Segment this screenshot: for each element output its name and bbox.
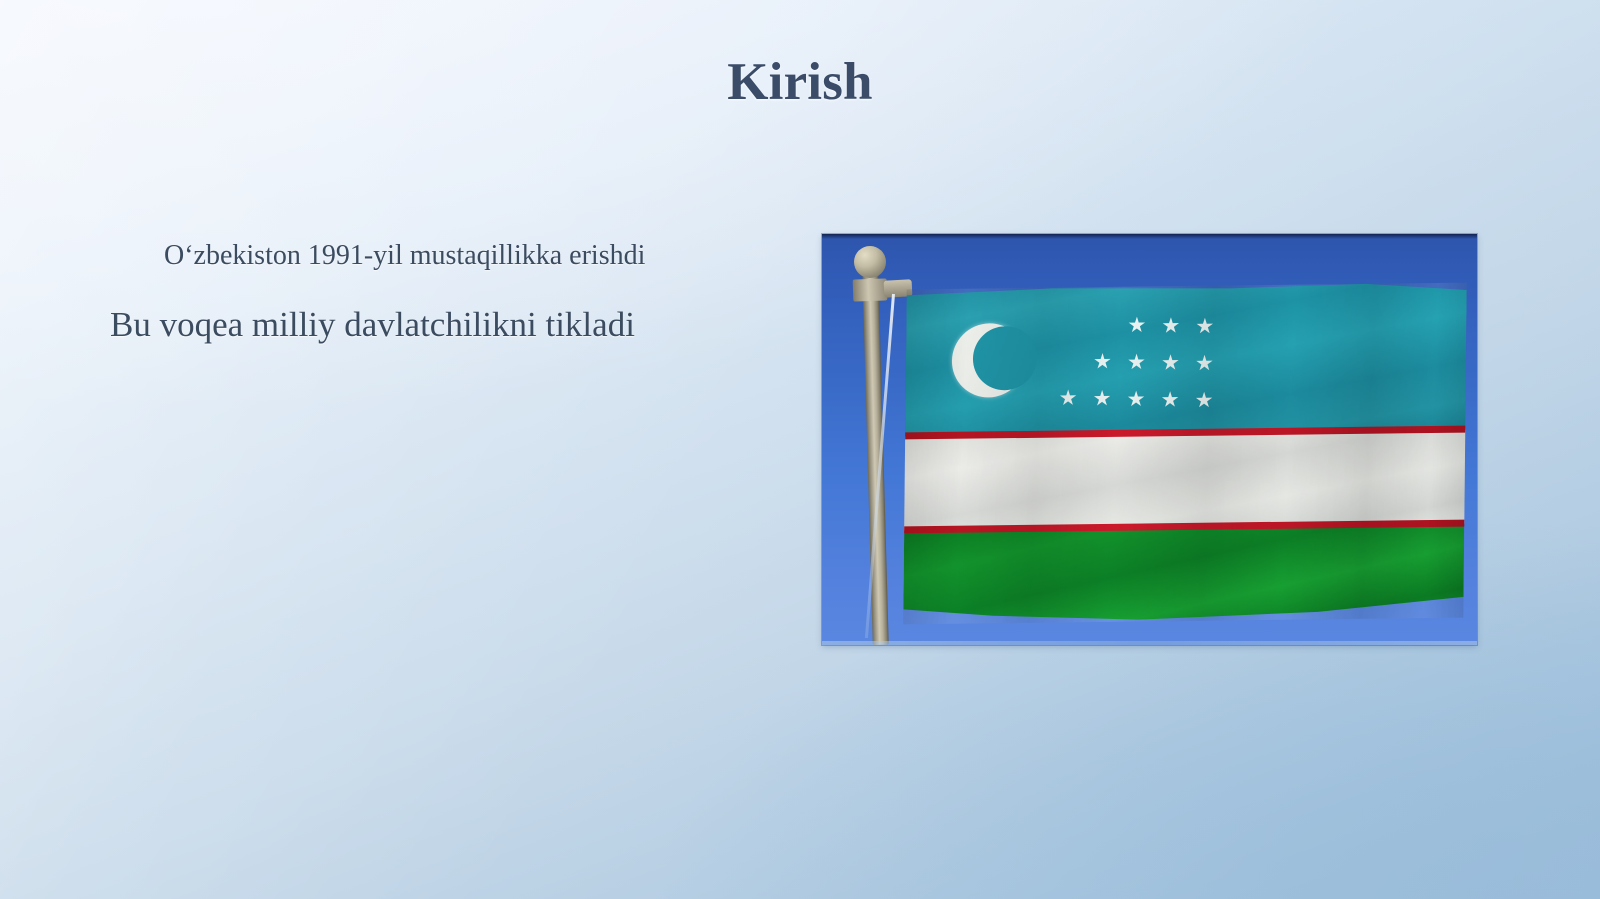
star-icon [1196, 355, 1213, 372]
flag-band-white [904, 430, 1465, 531]
photo-bottom-edge [822, 641, 1477, 645]
flag-band-green [903, 524, 1464, 625]
crescent-moon-icon [952, 323, 1027, 398]
slide-canvas: Kirish Oʻzbekiston 1991-yil mustaqillikk… [0, 0, 1600, 899]
star-icon [1094, 353, 1111, 370]
star-icon [1196, 318, 1213, 335]
star-icon [1195, 392, 1212, 409]
uzbekistan-flag-image [822, 234, 1477, 645]
star-icon [1128, 317, 1145, 334]
star-icon [1128, 354, 1145, 371]
flagpole-collar [853, 278, 888, 301]
flag-stars-group [1055, 315, 1256, 427]
star-icon [1093, 390, 1110, 407]
star-icon [1127, 391, 1144, 408]
star-icon [1059, 389, 1076, 406]
flag-cloth [903, 283, 1467, 625]
star-icon [1161, 391, 1178, 408]
star-icon [1162, 317, 1179, 334]
star-icon [1162, 354, 1179, 371]
body-line-2: Bu voqea milliy davlatchilikni tikladi [96, 300, 796, 350]
body-line-1: Oʻzbekiston 1991-yil mustaqillikka erish… [96, 236, 796, 276]
flagpole-finial-icon [854, 246, 886, 278]
page-title: Kirish [0, 51, 1600, 113]
body-text-block: Oʻzbekiston 1991-yil mustaqillikka erish… [96, 236, 796, 350]
